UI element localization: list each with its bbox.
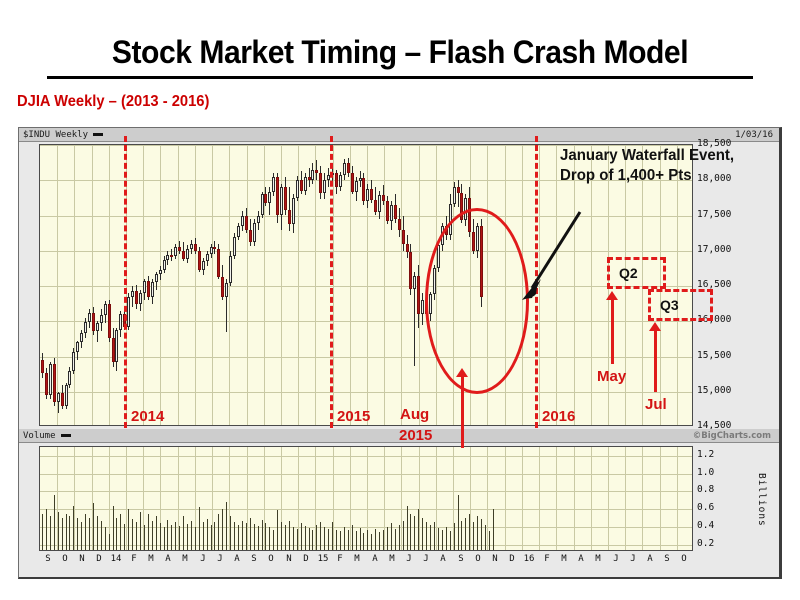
candle-body bbox=[472, 232, 475, 250]
price-y-axis: 18,50018,00017,50017,00016,50016,00015,5… bbox=[697, 144, 767, 426]
candle-body bbox=[300, 180, 303, 191]
x-axis-tick: F bbox=[544, 554, 549, 564]
gridline bbox=[160, 145, 161, 425]
symbol-label: $INDU Weekly bbox=[23, 128, 103, 142]
volume-bar bbox=[113, 506, 114, 550]
x-axis-tick: M bbox=[389, 554, 394, 564]
volume-bar bbox=[410, 514, 411, 550]
volume-bar bbox=[450, 531, 451, 550]
volume-bar bbox=[152, 521, 153, 550]
candle-body bbox=[453, 187, 456, 204]
candle-body bbox=[421, 300, 424, 314]
volume-bar bbox=[50, 516, 51, 550]
volume-bar bbox=[383, 530, 384, 550]
candle-body bbox=[76, 342, 79, 351]
x-axis-tick: S bbox=[251, 554, 256, 564]
volume-bar bbox=[320, 522, 321, 550]
gridline bbox=[470, 145, 471, 425]
candle-body bbox=[182, 251, 185, 259]
volume-bar bbox=[379, 532, 380, 550]
bigcharts-chart: $INDU Weekly 1/03/16 18,50018,00017,5001… bbox=[18, 127, 782, 579]
x-axis: SOND14FMAMJJASOND15FMAMJJASOND16FMAMJJAS… bbox=[39, 552, 693, 568]
candle-body bbox=[292, 198, 295, 224]
volume-bar bbox=[281, 522, 282, 550]
candle-body bbox=[296, 180, 299, 198]
volume-bar bbox=[375, 529, 376, 550]
candle-body bbox=[351, 173, 354, 192]
volume-bar bbox=[85, 514, 86, 550]
volume-bar bbox=[46, 509, 47, 550]
candle-body bbox=[402, 230, 405, 243]
candle-body bbox=[225, 283, 228, 297]
candle-body bbox=[123, 314, 126, 327]
gridline bbox=[677, 447, 678, 550]
gridline bbox=[591, 447, 592, 550]
y-axis-tick: 18,000 bbox=[697, 173, 731, 184]
gridline bbox=[677, 145, 678, 425]
volume-bar bbox=[164, 527, 165, 550]
candle-body bbox=[147, 281, 150, 297]
volume-bar bbox=[171, 525, 172, 550]
gridline bbox=[350, 447, 351, 550]
candle-body bbox=[378, 195, 381, 212]
volume-bar bbox=[250, 518, 251, 550]
volume-bar bbox=[187, 524, 188, 550]
title-underline bbox=[47, 76, 753, 79]
volume-bar bbox=[42, 514, 43, 550]
x-axis-tick: A bbox=[440, 554, 445, 564]
volume-bar bbox=[183, 516, 184, 550]
gridline bbox=[57, 145, 58, 425]
candle-body bbox=[84, 322, 87, 333]
candle-body bbox=[264, 194, 267, 202]
gridline bbox=[40, 357, 692, 358]
volume-panel-header: Volume bbox=[19, 429, 779, 443]
candle-body bbox=[143, 281, 146, 293]
candle-body bbox=[311, 170, 314, 181]
volume-bar bbox=[89, 518, 90, 550]
volume-bar bbox=[481, 519, 482, 550]
volume-bar bbox=[265, 523, 266, 550]
y-axis-tick: 17,000 bbox=[697, 244, 731, 255]
volume-bar bbox=[120, 514, 121, 550]
candle-body bbox=[174, 247, 177, 256]
volume-bar bbox=[285, 525, 286, 550]
volume-bar bbox=[340, 531, 341, 550]
gridline bbox=[591, 145, 592, 425]
gridline bbox=[195, 145, 196, 425]
volume-bar bbox=[269, 527, 270, 550]
x-axis-tick: O bbox=[475, 554, 480, 564]
volume-label: Volume bbox=[23, 429, 71, 443]
gridline bbox=[212, 447, 213, 550]
volume-y-axis-tick: 1.2 bbox=[697, 449, 714, 460]
gridline bbox=[126, 447, 127, 550]
candle-body bbox=[65, 385, 68, 405]
candle-body bbox=[323, 180, 326, 193]
volume-bar bbox=[473, 522, 474, 550]
gridline bbox=[384, 145, 385, 425]
candle-body bbox=[476, 226, 479, 251]
volume-bar bbox=[430, 525, 431, 550]
gridline bbox=[40, 509, 692, 510]
x-axis-tick: F bbox=[337, 554, 342, 564]
gridline bbox=[247, 447, 248, 550]
gridline bbox=[212, 145, 213, 425]
x-axis-tick: J bbox=[217, 554, 222, 564]
x-axis-tick: 14 bbox=[111, 554, 122, 564]
candle-body bbox=[366, 189, 369, 202]
volume-bar bbox=[148, 514, 149, 550]
candle-body bbox=[115, 330, 118, 362]
gridline bbox=[40, 474, 692, 475]
volume-bar bbox=[262, 520, 263, 550]
y-axis-tick: 16,000 bbox=[697, 314, 731, 325]
volume-bar bbox=[289, 521, 290, 550]
candle-body bbox=[88, 313, 91, 322]
candle-body bbox=[280, 187, 283, 215]
candle-body bbox=[45, 373, 48, 396]
candle-body bbox=[382, 195, 385, 201]
candle-body bbox=[272, 177, 275, 193]
volume-bar bbox=[66, 514, 67, 550]
volume-bar bbox=[116, 518, 117, 550]
candle-body bbox=[178, 247, 181, 251]
gridline bbox=[40, 545, 692, 546]
volume-bar bbox=[418, 509, 419, 550]
volume-bar bbox=[234, 522, 235, 550]
volume-y-axis-tick: 0.4 bbox=[697, 520, 714, 531]
volume-bar bbox=[81, 522, 82, 550]
volume-bar bbox=[242, 521, 243, 550]
candle-body bbox=[92, 313, 95, 331]
x-axis-tick: M bbox=[182, 554, 187, 564]
volume-bar bbox=[214, 522, 215, 550]
volume-bar bbox=[489, 531, 490, 550]
volume-bar bbox=[454, 523, 455, 550]
quote-date: 1/03/16 bbox=[735, 128, 773, 142]
volume-y-axis-tick: 0.6 bbox=[697, 502, 714, 513]
gridline bbox=[333, 447, 334, 550]
candle-body bbox=[198, 251, 201, 271]
volume-bar bbox=[277, 510, 278, 550]
volume-bar bbox=[258, 526, 259, 550]
gridline bbox=[539, 447, 540, 550]
volume-bar bbox=[144, 525, 145, 550]
volume-bar bbox=[132, 519, 133, 550]
series-swatch bbox=[93, 133, 103, 136]
y-axis-tick: 18,500 bbox=[697, 138, 731, 149]
x-axis-tick: A bbox=[647, 554, 652, 564]
volume-bar bbox=[230, 516, 231, 550]
gridline bbox=[574, 447, 575, 550]
volume-bar bbox=[387, 527, 388, 550]
candle-body bbox=[49, 364, 52, 396]
gridline bbox=[574, 145, 575, 425]
candle-body bbox=[268, 192, 271, 203]
x-axis-tick: M bbox=[595, 554, 600, 564]
candle-body bbox=[417, 276, 420, 314]
volume-bar bbox=[199, 507, 200, 550]
volume-bar bbox=[246, 523, 247, 550]
candle-body bbox=[304, 177, 307, 191]
volume-bar bbox=[465, 518, 466, 550]
gridline bbox=[40, 491, 692, 492]
candle-body bbox=[425, 300, 428, 314]
candle-body bbox=[394, 205, 397, 219]
volume-bar bbox=[226, 502, 227, 550]
volume-bar bbox=[160, 523, 161, 550]
volume-bar bbox=[203, 522, 204, 550]
volume-bar bbox=[195, 527, 196, 550]
x-axis-tick: J bbox=[613, 554, 618, 564]
x-axis-tick: 15 bbox=[318, 554, 329, 564]
volume-bar bbox=[297, 529, 298, 550]
gridline bbox=[608, 447, 609, 550]
x-axis-tick: N bbox=[492, 554, 497, 564]
volume-bar bbox=[97, 516, 98, 550]
x-axis-tick: J bbox=[406, 554, 411, 564]
volume-y-axis-tick: 1.0 bbox=[697, 467, 714, 478]
candle-body bbox=[151, 282, 154, 297]
x-axis-tick: S bbox=[458, 554, 463, 564]
candle-body bbox=[170, 255, 173, 257]
volume-axis-title: Billions bbox=[756, 473, 767, 527]
gridline bbox=[660, 145, 661, 425]
gridline bbox=[556, 447, 557, 550]
gridline bbox=[539, 145, 540, 425]
volume-bar bbox=[328, 529, 329, 550]
volume-bar bbox=[344, 527, 345, 550]
price-plot-area bbox=[39, 144, 693, 426]
candle-body bbox=[163, 260, 166, 271]
candle-body bbox=[413, 276, 416, 289]
candle-body bbox=[460, 193, 463, 220]
volume-bar bbox=[469, 514, 470, 550]
candle-body bbox=[249, 230, 252, 243]
candle-body bbox=[406, 244, 409, 252]
gridline bbox=[247, 145, 248, 425]
gridline bbox=[401, 447, 402, 550]
volume-bar bbox=[399, 525, 400, 550]
candle-body bbox=[53, 364, 56, 403]
gridline bbox=[40, 251, 692, 252]
y-axis-tick: 15,500 bbox=[697, 350, 731, 361]
volume-bar bbox=[360, 528, 361, 550]
gridline bbox=[505, 447, 506, 550]
gridline bbox=[40, 456, 692, 457]
candle-wick bbox=[132, 286, 133, 307]
candle-body bbox=[104, 304, 107, 315]
gridline bbox=[505, 145, 506, 425]
volume-bar bbox=[54, 495, 55, 550]
volume-bar bbox=[458, 495, 459, 550]
x-axis-tick: O bbox=[681, 554, 686, 564]
candle-body bbox=[441, 226, 444, 245]
x-axis-tick: J bbox=[423, 554, 428, 564]
candle-body bbox=[429, 294, 432, 314]
candle-body bbox=[386, 201, 389, 221]
volume-bar bbox=[371, 534, 372, 550]
volume-bar bbox=[175, 522, 176, 550]
gridline bbox=[470, 447, 471, 550]
candle-body bbox=[108, 304, 111, 339]
candle-body bbox=[327, 175, 330, 181]
volume-bar bbox=[309, 528, 310, 550]
price-gridlines bbox=[40, 145, 692, 425]
gridline bbox=[126, 145, 127, 425]
gridline bbox=[522, 447, 523, 550]
volume-bar bbox=[493, 509, 494, 550]
candle-body bbox=[186, 249, 189, 260]
volume-bar bbox=[367, 530, 368, 550]
candle-body bbox=[127, 297, 130, 327]
volume-bar bbox=[254, 524, 255, 550]
candle-body bbox=[237, 226, 240, 237]
gridline bbox=[487, 447, 488, 550]
x-axis-tick: D bbox=[509, 554, 514, 564]
volume-bar bbox=[316, 525, 317, 550]
candle-body bbox=[319, 173, 322, 193]
gridline bbox=[642, 447, 643, 550]
candle-body bbox=[284, 187, 287, 210]
x-axis-tick: A bbox=[234, 554, 239, 564]
gridline bbox=[436, 447, 437, 550]
volume-y-axis-tick: 0.8 bbox=[697, 484, 714, 495]
candle-body bbox=[72, 352, 75, 371]
volume-swatch bbox=[61, 434, 71, 437]
candle-body bbox=[119, 314, 122, 330]
candle-body bbox=[390, 205, 393, 221]
gridline bbox=[642, 145, 643, 425]
candle-body bbox=[480, 226, 483, 297]
price-panel-header: $INDU Weekly 1/03/16 bbox=[19, 128, 779, 142]
candle-body bbox=[213, 247, 216, 249]
volume-bar bbox=[58, 512, 59, 550]
x-axis-tick: M bbox=[354, 554, 359, 564]
gridline bbox=[436, 145, 437, 425]
candle-body bbox=[398, 219, 401, 230]
gridline bbox=[522, 145, 523, 425]
volume-bar bbox=[179, 526, 180, 550]
volume-bar bbox=[391, 523, 392, 550]
x-axis-tick: F bbox=[131, 554, 136, 564]
volume-bar bbox=[218, 514, 219, 550]
volume-bar bbox=[293, 527, 294, 550]
volume-bar bbox=[62, 518, 63, 550]
gridline bbox=[40, 286, 692, 287]
x-axis-tick: J bbox=[630, 554, 635, 564]
volume-bar bbox=[434, 522, 435, 550]
x-axis-tick: S bbox=[45, 554, 50, 564]
gridline bbox=[401, 145, 402, 425]
x-axis-tick: 16 bbox=[524, 554, 535, 564]
volume-bar bbox=[69, 516, 70, 550]
candle-body bbox=[68, 371, 71, 386]
candle-body bbox=[437, 245, 440, 268]
gridline bbox=[487, 145, 488, 425]
candle-body bbox=[347, 163, 350, 174]
candle-body bbox=[445, 226, 448, 234]
candle-body bbox=[96, 323, 99, 331]
candle-wick bbox=[458, 180, 459, 207]
candle-body bbox=[100, 315, 103, 323]
gridline bbox=[333, 145, 334, 425]
gridline bbox=[178, 145, 179, 425]
volume-bar bbox=[485, 525, 486, 550]
gridline bbox=[40, 180, 692, 181]
gridline bbox=[384, 447, 385, 550]
gridline bbox=[625, 145, 626, 425]
volume-bar bbox=[124, 524, 125, 550]
candle-body bbox=[61, 393, 64, 406]
gridline bbox=[74, 145, 75, 425]
candle-body bbox=[166, 255, 169, 260]
candle-body bbox=[135, 291, 138, 304]
x-axis-tick: M bbox=[148, 554, 153, 564]
volume-bar bbox=[211, 525, 212, 550]
candle-body bbox=[468, 198, 471, 233]
candle-body bbox=[221, 277, 224, 297]
gridline bbox=[298, 447, 299, 550]
candle-body bbox=[433, 268, 436, 294]
gridline bbox=[40, 145, 692, 146]
volume-bar bbox=[105, 527, 106, 550]
volume-bar bbox=[336, 530, 337, 550]
x-axis-tick: N bbox=[286, 554, 291, 564]
volume-bar bbox=[77, 518, 78, 550]
candle-body bbox=[155, 274, 158, 282]
gridline bbox=[109, 145, 110, 425]
candle-body bbox=[343, 163, 346, 175]
candle-body bbox=[241, 216, 244, 227]
volume-bar bbox=[167, 520, 168, 550]
y-axis-tick: 16,500 bbox=[697, 279, 731, 290]
volume-bar bbox=[156, 516, 157, 550]
volume-bar bbox=[222, 509, 223, 550]
volume-bar bbox=[273, 530, 274, 550]
volume-bar bbox=[403, 521, 404, 550]
x-axis-tick: S bbox=[664, 554, 669, 564]
volume-bar bbox=[356, 531, 357, 550]
volume-bar bbox=[140, 512, 141, 550]
candle-body bbox=[449, 204, 452, 234]
candle-body bbox=[315, 170, 318, 174]
y-axis-tick: 17,500 bbox=[697, 209, 731, 220]
candle-body bbox=[202, 261, 205, 270]
volume-bar bbox=[352, 525, 353, 550]
volume-bar bbox=[332, 522, 333, 550]
candle-body bbox=[276, 177, 279, 216]
volume-gridlines bbox=[40, 447, 692, 550]
x-axis-tick: O bbox=[62, 554, 67, 564]
candle-body bbox=[206, 254, 209, 262]
x-axis-tick: A bbox=[578, 554, 583, 564]
x-axis-tick: J bbox=[200, 554, 205, 564]
volume-bar bbox=[438, 528, 439, 550]
page-subtitle: DJIA Weekly – (2013 - 2016) bbox=[17, 93, 209, 111]
candle-body bbox=[159, 270, 162, 274]
gridline bbox=[40, 392, 692, 393]
candle-body bbox=[217, 249, 220, 277]
candle-body bbox=[374, 200, 377, 212]
candle-body bbox=[409, 252, 412, 289]
x-axis-tick: D bbox=[96, 554, 101, 564]
gridline bbox=[608, 145, 609, 425]
candle-body bbox=[41, 360, 44, 373]
volume-bar bbox=[101, 521, 102, 550]
candle-body bbox=[190, 244, 193, 249]
